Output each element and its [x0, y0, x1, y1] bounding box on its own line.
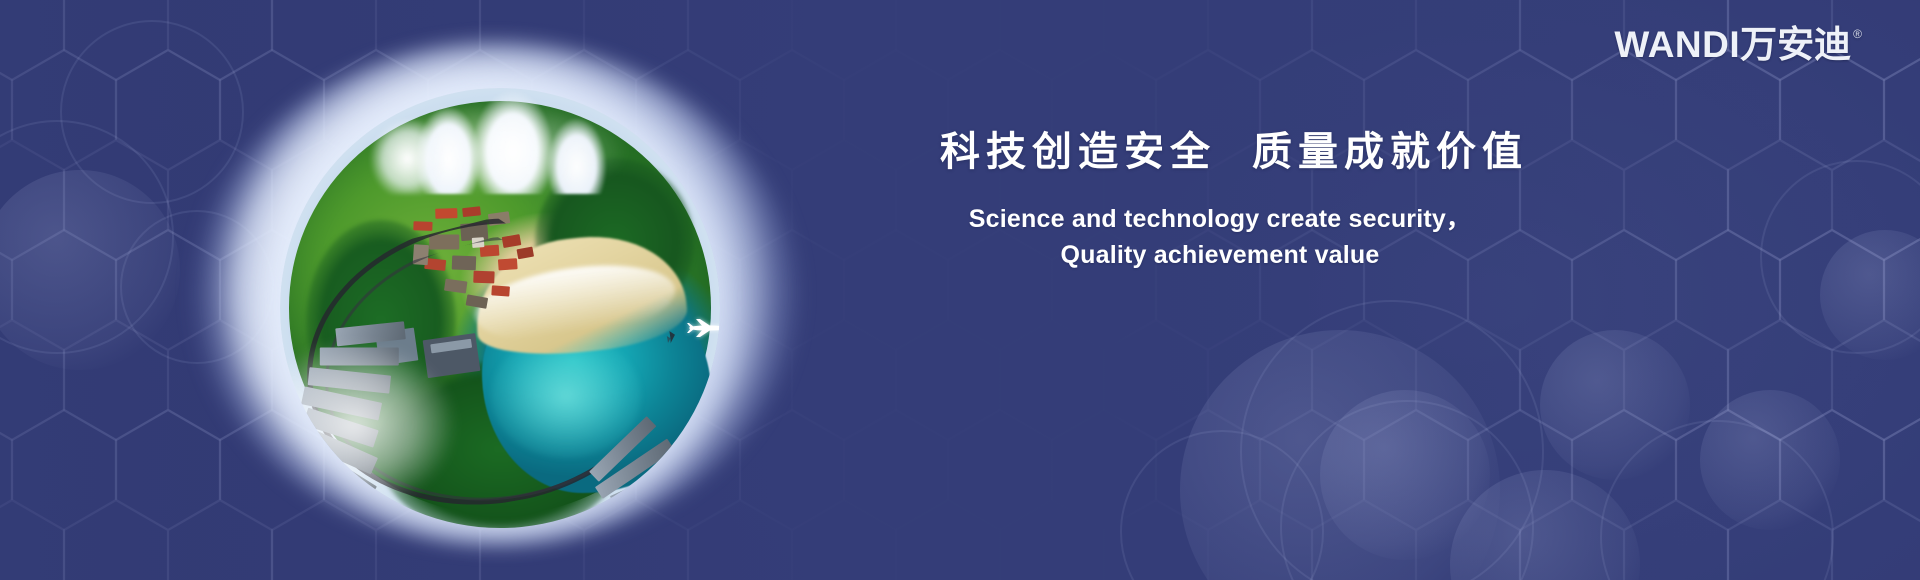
wandi-logo[interactable]: WANDI 万安迪 ®: [1614, 26, 1862, 63]
subtitle-line-1: Science and technology create security，: [940, 201, 1500, 237]
globe-sphere: [280, 88, 720, 528]
page-title: 科技创造安全质量成就价值: [940, 130, 1500, 175]
logo-chinese-text: 万安迪: [1740, 26, 1851, 63]
logo-latin-text: WANDI: [1614, 26, 1740, 63]
trademark-icon: ®: [1853, 28, 1862, 40]
subtitle-line-2: Quality achievement value: [940, 237, 1500, 273]
headline-right: 质量成就价值: [1252, 130, 1528, 174]
subtitle: Science and technology create security， …: [940, 201, 1500, 274]
cloud-veil-top: [324, 88, 676, 185]
headline-left: 科技创造安全: [940, 130, 1216, 174]
hero-banner: 科技创造安全质量成就价值 Science and technology crea…: [0, 0, 1920, 580]
tiny-planet-globe: [196, 44, 796, 544]
copy-block: 科技创造安全质量成就价值 Science and technology crea…: [940, 130, 1500, 273]
cloud-veil: [280, 282, 518, 528]
airplane-icon: [686, 317, 720, 339]
